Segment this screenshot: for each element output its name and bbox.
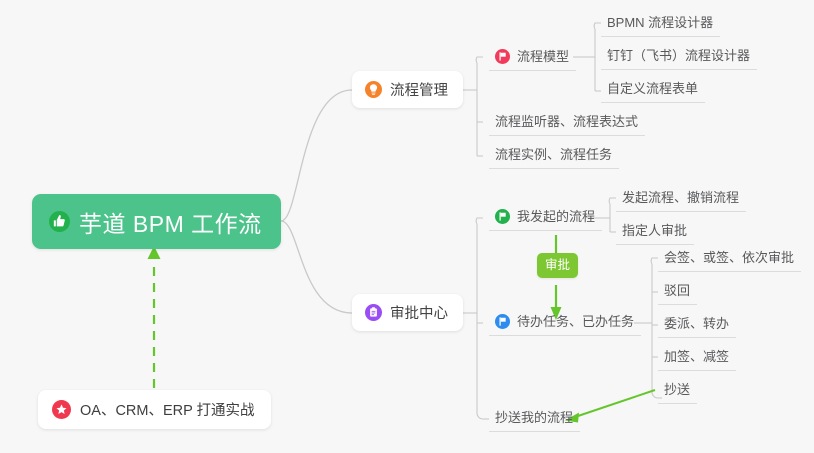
leaf-reject[interactable]: 驳回 <box>658 279 697 305</box>
leaf-label: 抄送 <box>664 381 690 398</box>
leaf-start-cancel-process[interactable]: 发起流程、撤销流程 <box>616 186 746 212</box>
node-label: 待办任务、已办任务 <box>517 313 634 330</box>
leaf-process-instance-task[interactable]: 流程实例、流程任务 <box>489 143 619 169</box>
leaf-custom-process-form[interactable]: 自定义流程表单 <box>601 77 705 103</box>
leaf-label: 指定人审批 <box>622 222 687 239</box>
leaf-cc-to-me-process[interactable]: 抄送我的流程 <box>489 406 580 432</box>
thumbs-up-icon <box>49 211 70 232</box>
leaf-label: 抄送我的流程 <box>495 409 573 426</box>
root-node[interactable]: 芋道 BPM 工作流 <box>32 194 281 249</box>
approve-badge-label: 审批 <box>545 258 570 272</box>
star-icon <box>52 400 71 419</box>
leaf-label: 会签、或签、依次审批 <box>664 249 794 266</box>
branch-node-label: 审批中心 <box>390 302 448 323</box>
flag-icon <box>495 49 510 64</box>
flag-icon <box>495 209 510 224</box>
mindmap-canvas: 芋道 BPM 工作流 流程管理 审批中心 <box>0 0 814 453</box>
branch-node-approval-center[interactable]: 审批中心 <box>352 294 463 331</box>
note-card-integration[interactable]: OA、CRM、ERP 打通实战 <box>38 390 271 429</box>
leaf-label: 驳回 <box>664 282 690 299</box>
node-process-model[interactable]: 流程模型 <box>489 45 576 71</box>
leaf-delegate-transfer[interactable]: 委派、转办 <box>658 312 736 338</box>
leaf-label: 自定义流程表单 <box>607 80 698 97</box>
clipboard-icon <box>365 304 382 321</box>
note-card-label: OA、CRM、ERP 打通实战 <box>80 399 255 420</box>
leaf-assigned-approver[interactable]: 指定人审批 <box>616 219 694 245</box>
node-label: 流程模型 <box>517 48 569 65</box>
leaf-label: 流程实例、流程任务 <box>495 146 612 163</box>
leaf-carbon-copy[interactable]: 抄送 <box>658 378 697 404</box>
leaf-label: 加签、减签 <box>664 348 729 365</box>
branch-node-process-management[interactable]: 流程管理 <box>352 71 463 108</box>
node-todo-done-tasks[interactable]: 待办任务、已办任务 <box>489 310 641 336</box>
node-my-initiated-process[interactable]: 我发起的流程 <box>489 205 602 231</box>
leaf-label: 钉钉（飞书）流程设计器 <box>607 47 750 64</box>
leaf-dingtalk-feishu-designer[interactable]: 钉钉（飞书）流程设计器 <box>601 44 757 70</box>
flag-icon <box>495 314 510 329</box>
node-label: 我发起的流程 <box>517 208 595 225</box>
leaf-label: 委派、转办 <box>664 315 729 332</box>
arrow-note-to-root <box>148 246 161 388</box>
leaf-countersign-orsign-sequential[interactable]: 会签、或签、依次审批 <box>658 246 801 272</box>
leaf-label: 发起流程、撤销流程 <box>622 189 739 206</box>
approve-badge[interactable]: 审批 <box>537 253 578 278</box>
lightbulb-icon <box>365 81 382 98</box>
leaf-bpmn-designer[interactable]: BPMN 流程设计器 <box>601 11 720 37</box>
root-node-label: 芋道 BPM 工作流 <box>79 205 262 239</box>
leaf-label: BPMN 流程设计器 <box>607 14 713 31</box>
leaf-process-listener-expression[interactable]: 流程监听器、流程表达式 <box>489 110 645 136</box>
leaf-label: 流程监听器、流程表达式 <box>495 113 638 130</box>
leaf-add-remove-sign[interactable]: 加签、减签 <box>658 345 736 371</box>
branch-node-label: 流程管理 <box>390 79 448 100</box>
